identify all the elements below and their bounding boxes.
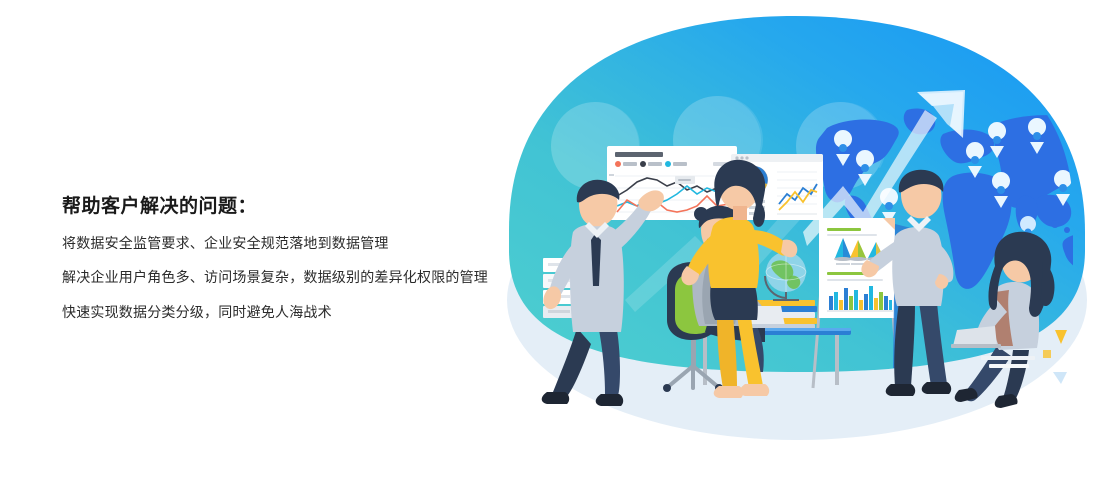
business-analytics-illustration xyxy=(495,0,1099,497)
text-block: 帮助客户解决的问题： 将数据安全监管要求、企业安全规范落地到数据管理 解决企业用… xyxy=(62,196,492,321)
promo-banner: 帮助客户解决的问题： 将数据安全监管要求、企业安全规范落地到数据管理 解决企业用… xyxy=(0,0,1099,497)
bullet-item-1: 将数据安全监管要求、企业安全规范落地到数据管理 xyxy=(62,235,492,253)
bullet-item-2: 解决企业用户角色多、访问场景复杂，数据级别的差异化权限的管理 xyxy=(62,269,492,287)
bullet-item-3: 快速实现数据分类分级，同时避免人海战术 xyxy=(62,304,492,322)
page-title: 帮助客户解决的问题： xyxy=(62,196,492,219)
